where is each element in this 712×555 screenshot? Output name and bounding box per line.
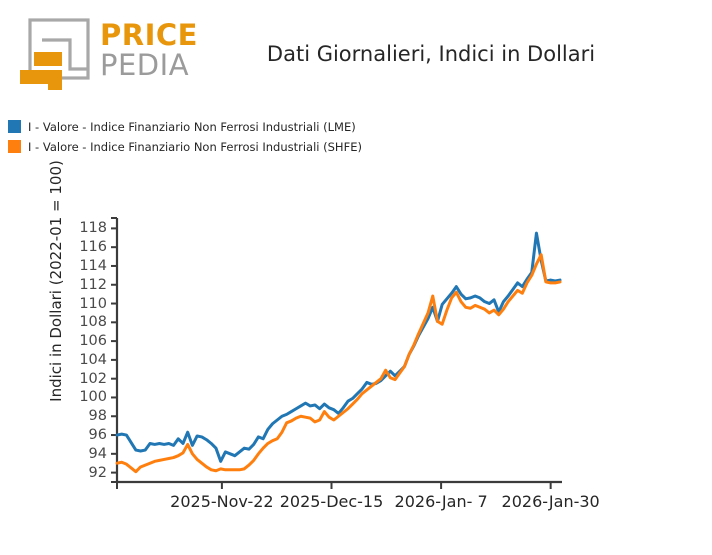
series-line-lme — [117, 233, 560, 461]
chart-svg — [0, 0, 712, 555]
chart-plot-area: Indici in Dollari (2022-01 = 100) 929496… — [0, 0, 712, 555]
